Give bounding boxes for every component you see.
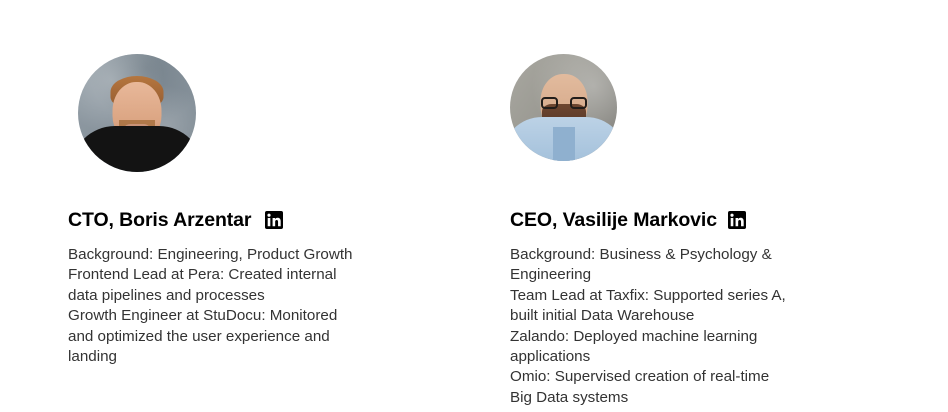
bio-line: Engineering (510, 265, 870, 285)
bio-line: data pipelines and processes (68, 286, 468, 306)
profile-bio-ceo: Background: Business & Psychology & Engi… (510, 245, 870, 408)
bio-line: Growth Engineer at StuDocu: Monitored (68, 306, 468, 326)
bio-line: Team Lead at Taxfix: Supported series A, (510, 286, 870, 306)
portrait-glasses (541, 97, 587, 109)
profile-card-cto: CTO, Boris Arzentar Background: Engineer… (68, 54, 468, 367)
avatar-photo-boris-arzentar (78, 54, 196, 172)
bio-line: Zalando: Deployed machine learning (510, 327, 870, 347)
bio-line: Background: Engineering, Product Growth (68, 245, 468, 265)
linkedin-icon[interactable] (265, 211, 283, 229)
portrait-collar (553, 127, 575, 161)
bio-line: Background: Business & Psychology & (510, 245, 870, 265)
bio-line: Omio: Supervised creation of real-time (510, 367, 870, 387)
profile-bio-cto: Background: Engineering, Product Growth … (68, 245, 468, 367)
page-title-ceo: CEO, Vasilije Markovic (510, 209, 717, 232)
avatar (510, 54, 617, 161)
avatar (78, 54, 196, 172)
bio-line: Frontend Lead at Pera: Created internal (68, 265, 468, 285)
bio-line: built initial Data Warehouse (510, 306, 870, 326)
page-title-cto: CTO, Boris Arzentar (68, 209, 251, 232)
profile-card-ceo: CEO, Vasilije Markovic Background: Busin… (510, 54, 870, 408)
linkedin-icon[interactable] (728, 211, 746, 229)
bio-line: and optimized the user experience and (68, 327, 468, 347)
portrait-shirt (78, 126, 196, 172)
bio-line: applications (510, 347, 870, 367)
bio-line: landing (68, 347, 468, 367)
profile-name-row: CTO, Boris Arzentar (68, 208, 468, 232)
team-profiles-section: CTO, Boris Arzentar Background: Engineer… (0, 0, 948, 412)
bio-line: Big Data systems (510, 388, 870, 408)
profile-name-row: CEO, Vasilije Markovic (510, 208, 870, 232)
avatar-photo-vasilije-markovic (510, 54, 617, 161)
